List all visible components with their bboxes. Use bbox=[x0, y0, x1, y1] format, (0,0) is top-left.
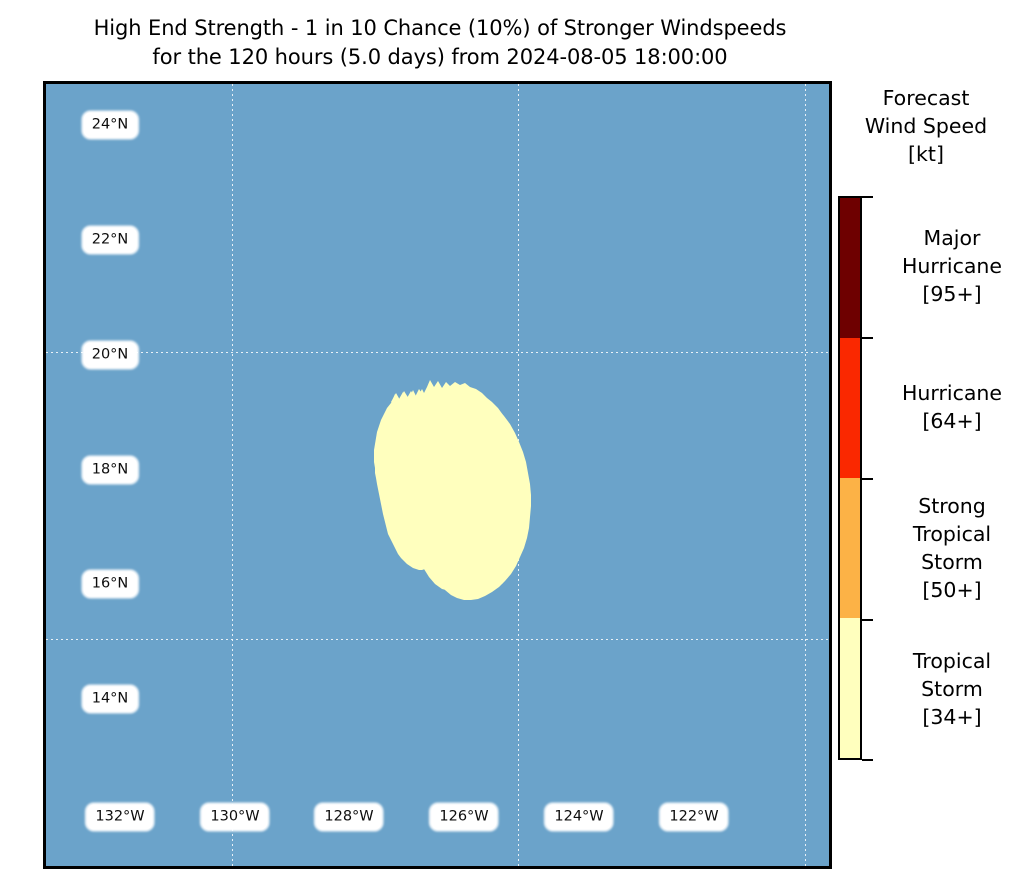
colorbar-tick-50 bbox=[862, 619, 873, 621]
lon-label-130w: 130°W bbox=[202, 805, 267, 830]
colorbar-label-hurricane: Hurricane [64+] bbox=[878, 379, 1015, 435]
colorbar-label-tropical-storm: Tropical Storm [34+] bbox=[878, 647, 1015, 731]
lon-label-122w: 122°W bbox=[661, 805, 726, 830]
colorbar-label-major-hurricane: Major Hurricane [95+] bbox=[878, 224, 1015, 308]
colorbar-label-strong-tropical-storm: Strong Tropical Storm [50+] bbox=[878, 492, 1015, 604]
lat-label-14n: 14°N bbox=[84, 687, 137, 712]
colorbar-segment-hurricane[interactable] bbox=[840, 338, 860, 478]
colorbar-segment-major-hurricane[interactable] bbox=[840, 198, 860, 338]
colorbar-tick-top bbox=[862, 196, 873, 198]
wind-field-polygon-tropical-storm bbox=[46, 84, 829, 866]
lon-label-128w: 128°W bbox=[316, 805, 381, 830]
colorbar-title: Forecast Wind Speed [kt] bbox=[838, 84, 1014, 168]
lat-label-20n: 20°N bbox=[84, 343, 137, 368]
lon-label-132w: 132°W bbox=[87, 805, 152, 830]
colorbar[interactable]: Major Hurricane [95+] Hurricane [64+] St… bbox=[838, 196, 862, 760]
lat-label-16n: 16°N bbox=[84, 572, 137, 597]
map-canvas[interactable]: 24°N 22°N 20°N 18°N 16°N 14°N 132°W 130°… bbox=[46, 84, 829, 866]
colorbar-segment-strong-tropical-storm[interactable] bbox=[840, 478, 860, 618]
lon-label-126w: 126°W bbox=[431, 805, 496, 830]
colorbar-tick-95 bbox=[862, 337, 873, 339]
lon-label-124w: 124°W bbox=[546, 805, 611, 830]
colorbar-tick-64 bbox=[862, 478, 873, 480]
colorbar-segment-tropical-storm[interactable] bbox=[840, 618, 860, 758]
map-panel[interactable]: 24°N 22°N 20°N 18°N 16°N 14°N 132°W 130°… bbox=[43, 81, 832, 869]
lat-label-18n: 18°N bbox=[84, 458, 137, 483]
colorbar-tick-34 bbox=[862, 759, 873, 761]
lat-label-22n: 22°N bbox=[84, 228, 137, 253]
colorbar-bar[interactable] bbox=[838, 196, 862, 760]
page-title: High End Strength - 1 in 10 Chance (10%)… bbox=[0, 14, 880, 72]
lat-label-24n: 24°N bbox=[84, 113, 137, 138]
